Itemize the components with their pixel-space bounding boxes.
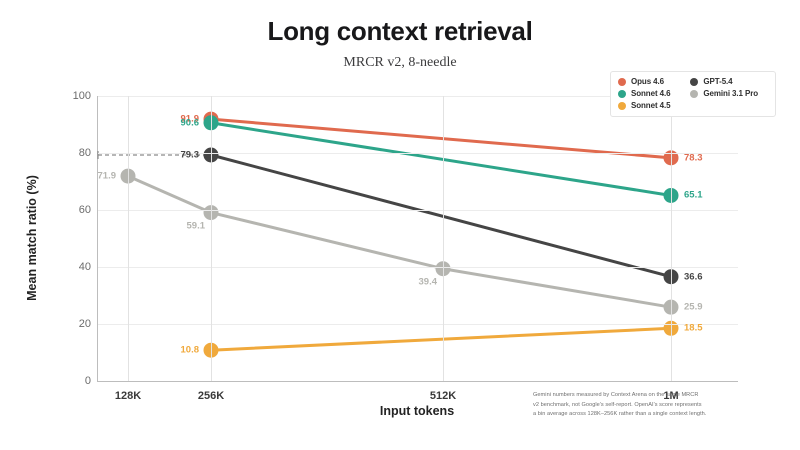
chart-legend: Opus 4.6GPT-5.4Sonnet 4.6Gemini 3.1 ProS… bbox=[610, 71, 776, 117]
legend-swatch-icon bbox=[618, 102, 626, 110]
legend-item[interactable]: Sonnet 4.6 bbox=[618, 89, 680, 98]
x-axis-label: Input tokens bbox=[380, 404, 454, 418]
legend-swatch-icon bbox=[618, 90, 626, 98]
y-axis-label: Mean match ratio (%) bbox=[25, 175, 39, 301]
legend-swatch-icon bbox=[690, 78, 698, 86]
footnote-line-3: a bin average across 128K–256K rather th… bbox=[533, 410, 769, 420]
data-point-label: 36.6 bbox=[684, 271, 703, 282]
series-line bbox=[211, 123, 671, 196]
series-line bbox=[128, 176, 671, 307]
legend-item-label: GPT-5.4 bbox=[703, 77, 732, 86]
legend-item[interactable]: Opus 4.6 bbox=[618, 77, 680, 86]
chart-footnote: Gemini numbers measured by Context Arena… bbox=[533, 391, 769, 420]
data-point-label: 79.3 bbox=[181, 149, 200, 160]
data-point-label: 10.8 bbox=[181, 345, 200, 356]
x-gridline bbox=[128, 96, 129, 381]
chart-subtitle: MRCR v2, 8-needle bbox=[0, 55, 800, 71]
data-point-label: 65.1 bbox=[684, 190, 703, 201]
footnote-line-1: Gemini numbers measured by Context Arena… bbox=[533, 391, 769, 401]
y-axis-tick: 80 bbox=[79, 147, 91, 159]
y-axis-tick: 100 bbox=[73, 90, 91, 102]
data-point-label: 78.3 bbox=[684, 152, 703, 163]
legend-swatch-icon bbox=[690, 90, 698, 98]
legend-item-label: Opus 4.6 bbox=[631, 77, 664, 86]
series-lines bbox=[98, 96, 738, 381]
data-point-label: 39.4 bbox=[419, 276, 438, 287]
data-point-label: 71.9 bbox=[98, 171, 117, 182]
legend-item-label: Sonnet 4.5 bbox=[631, 101, 670, 110]
x-gridline bbox=[211, 96, 212, 381]
data-point-label: 59.1 bbox=[187, 220, 206, 231]
legend-item-label: Sonnet 4.6 bbox=[631, 89, 670, 98]
x-axis-tick: 128K bbox=[115, 390, 141, 402]
y-gridline bbox=[98, 267, 738, 268]
y-axis-tick: 0 bbox=[85, 375, 91, 387]
y-axis-tick: 40 bbox=[79, 261, 91, 273]
data-point-label: 90.6 bbox=[181, 117, 200, 128]
data-point-label: 25.9 bbox=[684, 302, 703, 313]
x-axis-tick: 256K bbox=[198, 390, 224, 402]
series-line bbox=[211, 328, 671, 350]
chart-title: Long context retrieval bbox=[0, 16, 800, 47]
legend-item-label: Gemini 3.1 Pro bbox=[703, 89, 758, 98]
chart-page: Long context retrieval MRCR v2, 8-needle… bbox=[0, 0, 800, 450]
x-axis-tick: 512K bbox=[430, 390, 456, 402]
y-axis-tick: 20 bbox=[79, 318, 91, 330]
series-line bbox=[211, 155, 671, 277]
y-axis-tick: 60 bbox=[79, 204, 91, 216]
y-gridline bbox=[98, 210, 738, 211]
y-gridline bbox=[98, 324, 738, 325]
legend-item[interactable]: Sonnet 4.5 bbox=[618, 101, 680, 110]
data-point-label: 18.5 bbox=[684, 323, 703, 334]
legend-item[interactable]: GPT-5.4 bbox=[690, 77, 768, 86]
plot-area: 020406080100128K256K512K1M91.978.390.665… bbox=[97, 96, 738, 382]
x-gridline bbox=[671, 96, 672, 381]
legend-swatch-icon bbox=[618, 78, 626, 86]
footnote-line-2: v2 benchmark, not Google's self-report. … bbox=[533, 401, 769, 411]
x-gridline bbox=[443, 96, 444, 381]
legend-item[interactable]: Gemini 3.1 Pro bbox=[690, 89, 768, 98]
